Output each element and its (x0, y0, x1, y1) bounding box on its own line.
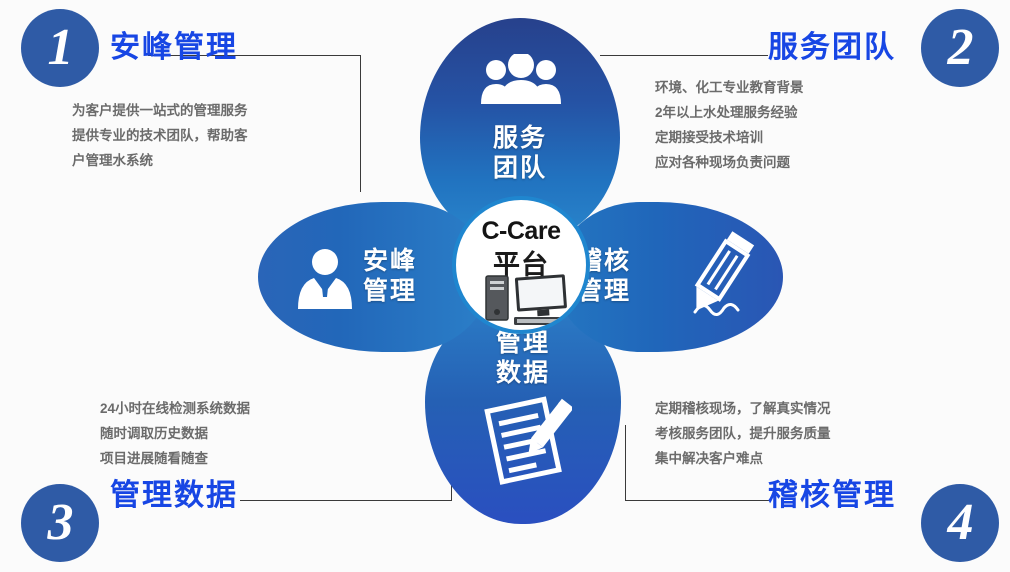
flower-diagram: 服务 团队 管理 数据 (255, 10, 785, 530)
description-line: 随时调取历史数据 (100, 421, 250, 446)
businessman-icon (294, 245, 356, 309)
quadrant-3-description: 24小时在线检测系统数据随时调取历史数据项目进展随看随查 (100, 396, 250, 471)
description-line: 户管理水系统 (72, 148, 248, 173)
quadrant-4-heading: 稽核管理 (768, 470, 896, 514)
description-line: 提供专业的技术团队，帮助客 (72, 123, 248, 148)
description-line: 为客户提供一站式的管理服务 (72, 98, 248, 123)
number-badge-4: 4 (921, 484, 999, 562)
center-hub[interactable]: C-Care 平台 (452, 196, 590, 334)
hub-title: C-Care (456, 217, 586, 246)
number-badge-3: 3 (21, 484, 99, 562)
petal-audit-management[interactable]: 稽核 管理 (555, 202, 783, 352)
petal-label-service-team: 服务 团队 (420, 123, 620, 183)
description-line: 24小时在线检测系统数据 (100, 396, 250, 421)
pencil-icon (683, 226, 761, 326)
quadrant-2-heading: 服务团队 (768, 22, 896, 66)
quadrant-3-heading: 管理数据 (110, 470, 238, 514)
quadrant-1-heading: 安峰管理 (110, 22, 238, 66)
number-badge-1: 1 (21, 9, 99, 87)
infographic-canvas: 1 2 3 4 安峰管理 服务团队 管理数据 稽核管理 为客户提供一站式的管理服… (0, 0, 1010, 572)
people-group-icon (475, 54, 567, 104)
clipboard-pencil-icon (480, 394, 572, 486)
quadrant-1-description: 为客户提供一站式的管理服务提供专业的技术团队，帮助客户管理水系统 (72, 98, 248, 173)
number-badge-2: 2 (921, 9, 999, 87)
petal-label-audit-management: 稽核 管理 (577, 246, 687, 306)
description-line: 项目进展随看随查 (100, 446, 250, 471)
desktop-computer-icon (478, 272, 570, 330)
